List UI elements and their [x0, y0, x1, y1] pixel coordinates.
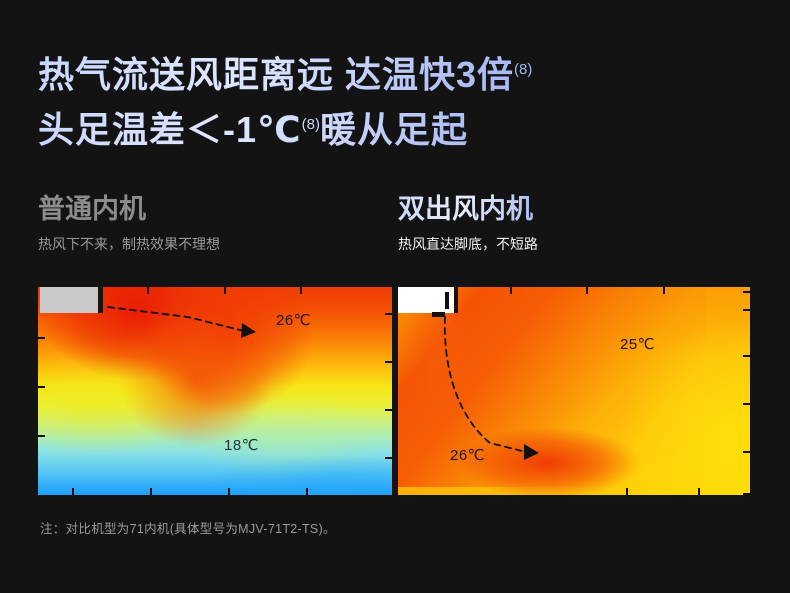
axis-tick [38, 435, 45, 437]
dashed-arrow-icon [38, 287, 392, 495]
axis-tick [743, 451, 750, 453]
axis-tick [743, 493, 750, 495]
axis-tick [306, 488, 308, 495]
axis-tick [224, 287, 226, 294]
headline-line-1-text: 热气流送风距离远 达温快3倍 [38, 54, 514, 95]
headline-line-1-footnote-marker: (8) [514, 61, 532, 78]
thermal-map-ordinary: 26℃ 18℃ [38, 287, 392, 495]
headline-line-2-suffix: 暖从足起 [320, 109, 468, 150]
axis-tick [150, 488, 152, 495]
temperature-label-ceiling-ordinary: 26℃ [276, 311, 311, 329]
axis-tick [663, 287, 665, 294]
headline-line-2-footnote-marker: (8) [302, 116, 320, 133]
axis-tick [147, 287, 149, 294]
column-header-dual-outlet: 双出风内机 热风直达脚底，不短路 [398, 192, 538, 253]
axis-tick [385, 457, 392, 459]
axis-tick [228, 488, 230, 495]
axis-tick [698, 488, 700, 495]
column-title-ordinary: 普通内机 [38, 192, 220, 226]
axis-tick [743, 309, 750, 311]
temperature-label-ceiling-dual-outlet: 25℃ [620, 335, 655, 353]
headline-line-1: 热气流送风距离远 达温快3倍(8) [38, 48, 738, 97]
temperature-label-floor-dual-outlet: 26℃ [450, 446, 485, 464]
axis-tick [626, 488, 628, 495]
axis-tick [300, 287, 302, 294]
headline-line-2: 头足温差＜-1℃(8)暖从足起 [38, 103, 738, 152]
promo-slide: 热气流送风距离远 达温快3倍(8) 头足温差＜-1℃(8)暖从足起 普通内机 热… [0, 0, 790, 593]
axis-tick [385, 313, 392, 315]
axis-tick [743, 403, 750, 405]
temperature-label-floor-ordinary: 18℃ [224, 436, 259, 454]
column-header-ordinary: 普通内机 热风下不来，制热效果不理想 [38, 192, 220, 253]
axis-tick [743, 355, 750, 357]
column-title-dual-outlet: 双出风内机 [398, 192, 538, 226]
axis-tick [743, 291, 750, 293]
axis-tick [586, 287, 588, 294]
column-subtitle-dual-outlet: 热风直达脚底，不短路 [398, 235, 538, 253]
axis-tick [72, 488, 74, 495]
axis-tick [38, 386, 45, 388]
thermal-map-dual-outlet: 25℃ 26℃ [398, 287, 750, 495]
axis-tick [385, 409, 392, 411]
column-subtitle-ordinary: 热风下不来，制热效果不理想 [38, 235, 220, 253]
headline-block: 热气流送风距离远 达温快3倍(8) 头足温差＜-1℃(8)暖从足起 [38, 48, 738, 152]
axis-tick [385, 361, 392, 363]
footnote: 注：对比机型为71内机(具体型号为MJV-71T2-TS)。 [40, 518, 336, 537]
axis-tick [510, 287, 512, 294]
headline-line-2-prefix: 头足温差＜-1℃ [38, 109, 302, 150]
axis-tick [38, 337, 45, 339]
